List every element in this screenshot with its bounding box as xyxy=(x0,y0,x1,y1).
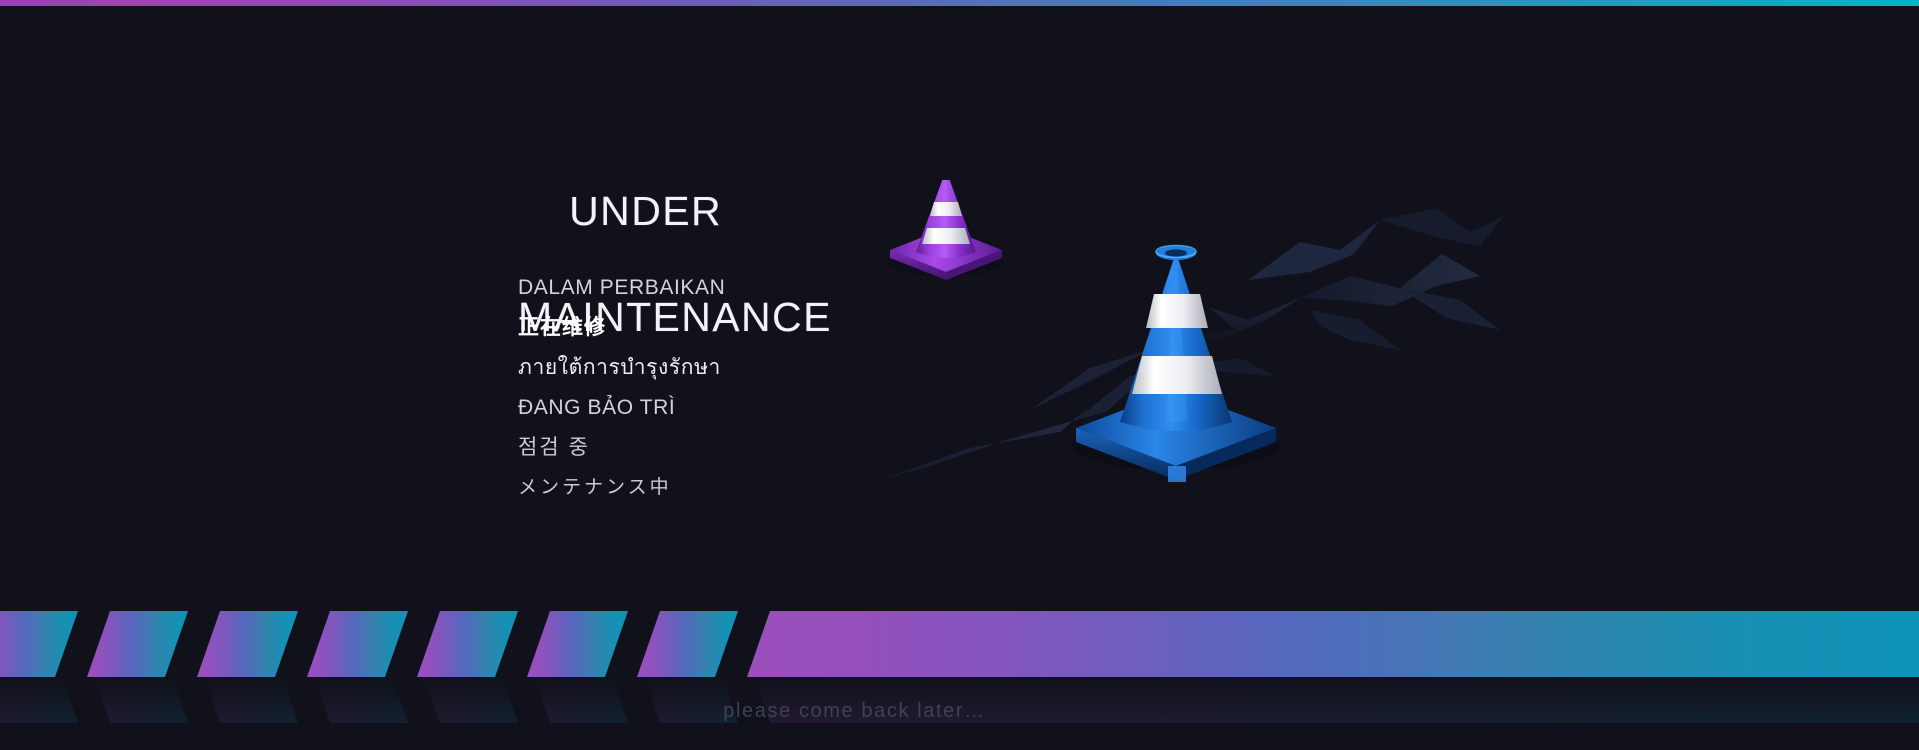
cone-stripe-upper xyxy=(1146,294,1208,328)
traffic-cone-purple xyxy=(888,180,1004,280)
footer-note: please come back later… xyxy=(0,700,1919,723)
cone-stripe-lower xyxy=(1132,356,1222,394)
cone-body xyxy=(916,180,976,258)
cone-stripe-upper xyxy=(930,202,962,216)
hazard-stripe-band xyxy=(0,611,1919,677)
top-gradient-bar xyxy=(0,0,1919,6)
traffic-cones-illustration xyxy=(880,180,1520,520)
page-title-line-1: UNDER xyxy=(569,188,722,234)
footer-note-text: please come back later… xyxy=(723,700,985,723)
maintenance-page: UNDER MAINTENANCE DALAM PERBAIKAN 正在维修 ภ… xyxy=(0,0,1919,750)
cone-stripe-lower xyxy=(922,228,970,244)
hazard-stripes xyxy=(0,611,1919,677)
